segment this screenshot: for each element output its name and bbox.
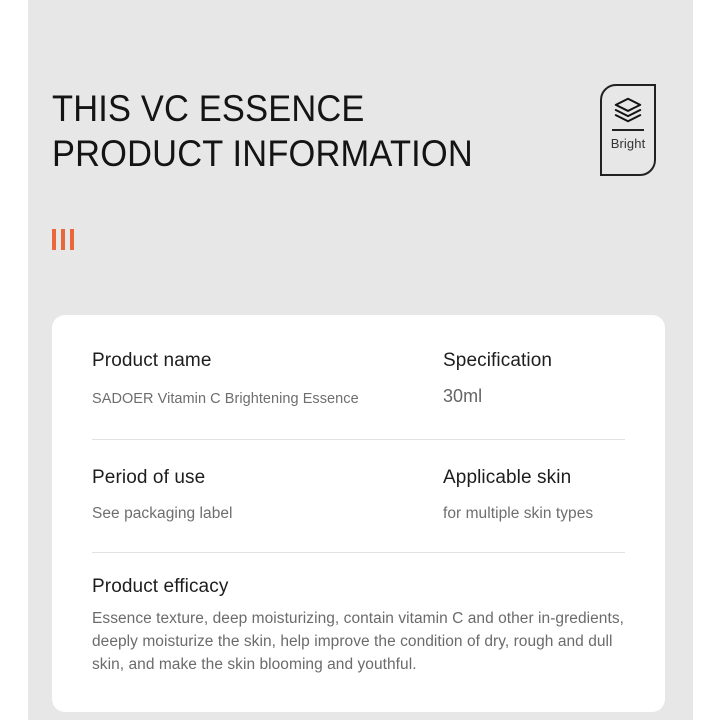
accent-bar-3 [70,229,74,250]
field-specification: Specification 30ml [443,349,625,409]
bright-badge: Bright [600,84,656,176]
field-value: See packaging label [92,504,443,524]
accent-bar-2 [61,229,65,250]
field-value: SADOER Vitamin C Brightening Essence [92,389,443,409]
field-period-of-use: Period of use See packaging label [92,466,443,524]
page-header: THIS VC ESSENCE PRODUCT INFORMATION [52,86,612,176]
info-row-efficacy: Product efficacy Essence texture, deep m… [52,553,665,676]
field-label: Period of use [92,466,443,490]
page-title-line-2: PRODUCT INFORMATION [52,131,573,176]
accent-bar-1 [52,229,56,250]
field-applicable-skin: Applicable skin for multiple skin types [443,466,625,524]
info-row-2: Period of use See packaging label Applic… [52,440,665,524]
page-title-line-1: THIS VC ESSENCE [52,86,573,131]
product-information-page: THIS VC ESSENCE PRODUCT INFORMATION Brig… [0,0,720,720]
badge-divider [612,129,644,131]
layers-stack-icon [613,95,643,125]
badge-label: Bright [611,136,646,151]
product-info-card: Product name SADOER Vitamin C Brightenin… [52,315,665,712]
field-value: for multiple skin types [443,504,625,524]
field-label-product-efficacy: Product efficacy [92,575,625,599]
field-value: 30ml [443,386,625,406]
info-row-1: Product name SADOER Vitamin C Brightenin… [52,315,665,409]
accent-marks [52,229,74,250]
field-label: Applicable skin [443,466,625,490]
field-label: Specification [443,349,625,373]
field-label: Product name [92,349,443,373]
product-efficacy-text: Essence texture, deep moisturizing, cont… [92,607,625,676]
field-product-name: Product name SADOER Vitamin C Brightenin… [92,349,443,409]
